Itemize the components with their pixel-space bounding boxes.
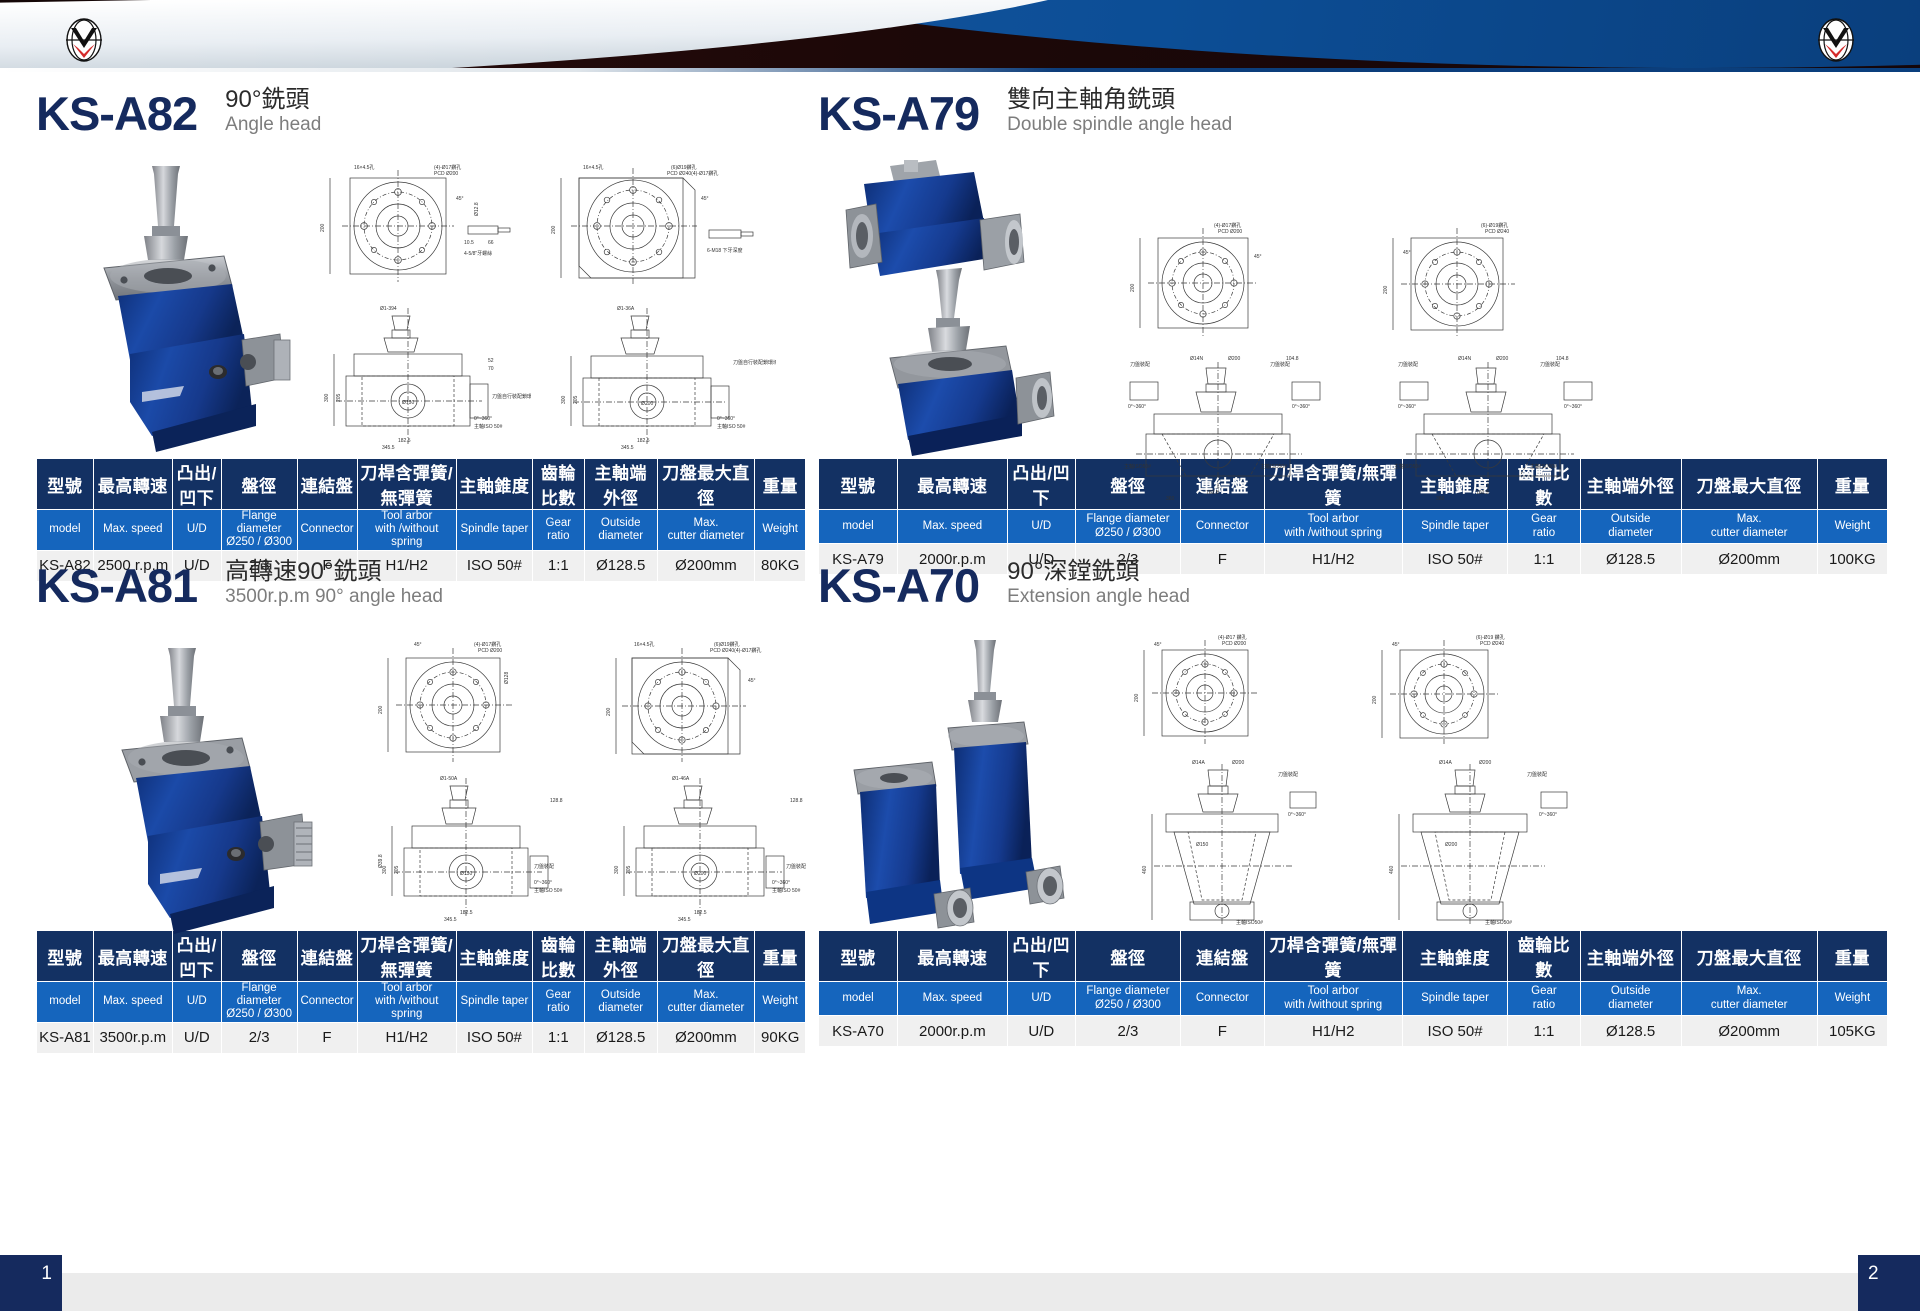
svg-text:刀盤裝配: 刀盤裝配 bbox=[1278, 771, 1298, 778]
svg-text:主軸ISO50#: 主軸ISO50# bbox=[1260, 463, 1287, 470]
th-cn-connector: 連結盤 bbox=[297, 459, 357, 510]
th-en-model: model bbox=[819, 982, 898, 1016]
th-en-tool-arbor: Tool arborwith /without spring bbox=[1264, 510, 1402, 544]
svg-text:300: 300 bbox=[561, 395, 567, 404]
th-cn-outside-diameter: 主軸端外徑 bbox=[584, 459, 657, 510]
product-desc-cn: 高轉速90°銑頭 bbox=[225, 558, 443, 586]
svg-text:Ø39.8: Ø39.8 bbox=[378, 854, 384, 868]
svg-text:160.5: 160.5 bbox=[1476, 490, 1489, 496]
svg-text:360: 360 bbox=[1436, 496, 1445, 500]
th-en-connector: Connector bbox=[1181, 510, 1264, 544]
svg-text:主軸ISO50#: 主軸ISO50# bbox=[1236, 919, 1263, 926]
svg-text:70: 70 bbox=[488, 366, 494, 372]
cell-connector: F bbox=[297, 1022, 357, 1053]
svg-text:Ø200: Ø200 bbox=[1479, 760, 1491, 766]
svg-text:0°~360°: 0°~360° bbox=[1398, 404, 1416, 410]
page-number-left: 1 bbox=[0, 1255, 62, 1311]
svg-text:Ø14N: Ø14N bbox=[1458, 356, 1471, 362]
th-cn-model: 型號 bbox=[819, 459, 898, 510]
svg-text:(4)-Ø17鑽孔: (4)-Ø17鑽孔 bbox=[474, 641, 501, 648]
th-en-flange: Flange diameterØ250 / Ø300 bbox=[221, 510, 297, 551]
th-en-connector: Connector bbox=[1181, 982, 1264, 1016]
th-en-max-speed: Max. speed bbox=[898, 510, 1008, 544]
th-en-ud: U/D bbox=[172, 982, 221, 1023]
svg-text:0°~360°: 0°~360° bbox=[1288, 812, 1306, 818]
th-cn-tool-arbor: 刀桿含彈簧/無彈簧 bbox=[357, 459, 456, 510]
svg-text:0°~360°: 0°~360° bbox=[1128, 404, 1146, 410]
th-en-gear-ratio: Gearratio bbox=[532, 510, 584, 551]
th-en-outside-diameter: Outsidediameter bbox=[584, 982, 657, 1023]
th-cn-outside-diameter: 主軸端外徑 bbox=[1580, 931, 1681, 982]
svg-text:PCD Ø200: PCD Ø200 bbox=[1222, 641, 1246, 647]
th-en-outside-diameter: Outsidediameter bbox=[584, 510, 657, 551]
th-en-max-cutter: Max.cutter diameter bbox=[657, 982, 755, 1023]
svg-text:460: 460 bbox=[1142, 865, 1148, 874]
svg-text:Ø200: Ø200 bbox=[1445, 842, 1457, 848]
footer-bar bbox=[0, 1273, 1920, 1311]
svg-text:主軸ISO 50#: 主軸ISO 50# bbox=[474, 423, 503, 430]
svg-text:0°~360°: 0°~360° bbox=[474, 416, 492, 422]
th-cn-flange: 盤徑 bbox=[221, 459, 297, 510]
th-cn-spindle-taper: 主軸錐度 bbox=[457, 931, 533, 982]
svg-text:Ø150: Ø150 bbox=[460, 871, 472, 877]
svg-text:16×4.5孔: 16×4.5孔 bbox=[583, 164, 603, 171]
th-en-spindle-taper: Spindle taper bbox=[457, 982, 533, 1023]
svg-text:刀盤自行裝配鎖環塊上: 刀盤自行裝配鎖環塊上 bbox=[492, 393, 531, 400]
table-header-en-row: model Max. speed U/D Flange diameterØ250… bbox=[819, 982, 1888, 1016]
th-en-tool-arbor: Tool arborwith /without spring bbox=[357, 510, 456, 551]
th-en-ud: U/D bbox=[1007, 510, 1075, 544]
product-title-row: KS-A79 雙向主軸角銑頭 Double spindle angle head bbox=[818, 86, 1888, 148]
th-cn-max-cutter: 刀盤最大直徑 bbox=[657, 459, 755, 510]
svg-text:200: 200 bbox=[1134, 693, 1140, 702]
svg-text:Ø200: Ø200 bbox=[1496, 356, 1508, 362]
svg-text:200: 200 bbox=[378, 705, 384, 714]
drawing-section-left: Ø14N Ø200 104.8 刀盤裝配 刀盤裝配 0°~ bbox=[1110, 350, 1340, 500]
table-row: KS-A70 2000r.p.m U/D 2/3 F H1/H2 ISO 50#… bbox=[819, 1016, 1888, 1047]
product-description: 高轉速90°銑頭 3500r.p.m 90° angle head bbox=[225, 558, 443, 609]
svg-text:200: 200 bbox=[1383, 285, 1389, 294]
th-cn-outside-diameter: 主軸端外徑 bbox=[584, 931, 657, 982]
svg-text:Ø14N: Ø14N bbox=[1190, 356, 1203, 362]
th-en-model: model bbox=[37, 982, 94, 1023]
product-desc-cn: 雙向主軸角銑頭 bbox=[1007, 86, 1232, 114]
svg-text:182.5: 182.5 bbox=[398, 438, 411, 444]
svg-text:345.5: 345.5 bbox=[678, 917, 691, 922]
th-en-flange: Flange diameterØ250 / Ø300 bbox=[1075, 982, 1180, 1016]
th-en-model: model bbox=[819, 510, 898, 544]
svg-text:(4)-Ø17鑽孔: (4)-Ø17鑽孔 bbox=[1214, 222, 1241, 229]
svg-text:Ø1-394: Ø1-394 bbox=[380, 306, 397, 312]
th-en-spindle-taper: Spindle taper bbox=[457, 510, 533, 551]
cell-max-cutter: Ø200mm bbox=[1681, 1016, 1817, 1047]
cell-weight: 90KG bbox=[755, 1022, 806, 1053]
cell-connector: F bbox=[1181, 1016, 1264, 1047]
svg-text:45°: 45° bbox=[414, 642, 422, 648]
product-title-row: KS-A70 90°深鏜銑頭 Extension angle head bbox=[818, 558, 1888, 620]
cell-max-speed: 2000r.p.m bbox=[898, 1016, 1008, 1047]
th-cn-max-cutter: 刀盤最大直徑 bbox=[1681, 931, 1817, 982]
spec-table-ks-a70: 型號 最高轉速 凸出/凹下 盤徑 連結盤 刀桿含彈簧/無彈簧 主軸錐度 齒輪比數… bbox=[818, 930, 1888, 1047]
drawing-side-section-left: Ø1-394 300 205 1 bbox=[306, 302, 531, 450]
product-model-name: KS-A79 bbox=[818, 86, 979, 137]
svg-text:0°~360°: 0°~360° bbox=[717, 416, 735, 422]
th-cn-connector: 連結盤 bbox=[1181, 931, 1264, 982]
svg-text:45°: 45° bbox=[748, 678, 756, 684]
svg-text:主軸ISO50#: 主軸ISO50# bbox=[1485, 919, 1512, 926]
svg-text:200: 200 bbox=[1130, 283, 1136, 292]
company-logo bbox=[52, 18, 116, 60]
header-banner bbox=[0, 0, 1920, 72]
svg-text:刀盤裝配: 刀盤裝配 bbox=[786, 863, 806, 870]
svg-text:刀盤裝配: 刀盤裝配 bbox=[1527, 771, 1547, 778]
svg-text:300: 300 bbox=[324, 393, 330, 402]
th-en-max-speed: Max. speed bbox=[898, 982, 1008, 1016]
drawing-extension-section-right: Ø14A Ø200 刀盤裝配 460 0°~360° bbox=[1363, 754, 1598, 926]
product-desc-en: Angle head bbox=[225, 114, 321, 137]
drawing-side-section-right: Ø1-46A 300 205 182.5 345.5 bbox=[594, 772, 829, 922]
th-cn-spindle-taper: 主軸錐度 bbox=[1402, 931, 1507, 982]
svg-text:45°: 45° bbox=[1254, 254, 1262, 260]
cell-tool-arbor: H1/H2 bbox=[357, 1022, 456, 1053]
th-en-spindle-taper: Spindle taper bbox=[1402, 982, 1507, 1016]
svg-text:刀盤自行裝配鎖環塊上: 刀盤自行裝配鎖環塊上 bbox=[733, 359, 776, 366]
svg-text:Ø14A: Ø14A bbox=[1192, 760, 1205, 766]
svg-text:(6)-Ø19 鑽孔: (6)-Ø19 鑽孔 bbox=[1476, 634, 1505, 641]
th-cn-gear-ratio: 齒輪比數 bbox=[532, 459, 584, 510]
th-cn-ud: 凸出/凹下 bbox=[172, 459, 221, 510]
drawing-flange-front-view: (4)-Ø17 鑽孔 PCD Ø200 200 45° bbox=[1118, 630, 1318, 748]
table-row: KS-A81 3500r.p.m U/D 2/3 F H1/H2 ISO 50#… bbox=[37, 1022, 806, 1053]
cell-spindle-taper: ISO 50# bbox=[1402, 1016, 1507, 1047]
cell-outside-diameter: Ø128.5 bbox=[584, 1022, 657, 1053]
svg-text:Ø1-50A: Ø1-50A bbox=[440, 776, 458, 782]
svg-text:345.5: 345.5 bbox=[444, 917, 457, 922]
svg-text:PCD Ø240(4)-Ø17鑽孔: PCD Ø240(4)-Ø17鑽孔 bbox=[667, 170, 718, 177]
svg-text:45°: 45° bbox=[1154, 642, 1162, 648]
th-en-ud: U/D bbox=[1007, 982, 1075, 1016]
product-photo bbox=[76, 646, 316, 941]
svg-text:460: 460 bbox=[1389, 865, 1395, 874]
svg-text:345.5: 345.5 bbox=[621, 445, 634, 450]
drawing-flange-front-view: (4)-Ø17鑽孔 PCD Ø200 45° 200 Ø bbox=[366, 636, 566, 766]
th-en-weight: Weight bbox=[755, 510, 806, 551]
product-desc-en: Double spindle angle head bbox=[1007, 114, 1232, 137]
svg-text:主軸ISO 50#: 主軸ISO 50# bbox=[534, 887, 563, 894]
svg-text:主軸ISO 50#: 主軸ISO 50# bbox=[772, 887, 801, 894]
svg-text:45°: 45° bbox=[1392, 642, 1400, 648]
svg-text:182.5: 182.5 bbox=[694, 910, 707, 916]
cell-flange: 2/3 bbox=[221, 1022, 297, 1053]
catalog-page: KS-A82 90°銑頭 Angle head bbox=[0, 0, 1920, 1311]
svg-text:0°~360°: 0°~360° bbox=[1292, 404, 1310, 410]
svg-text:0°~360°: 0°~360° bbox=[1539, 812, 1557, 818]
page-number-right: 2 bbox=[1858, 1255, 1920, 1311]
cell-ud: U/D bbox=[172, 1022, 221, 1053]
table-header-cn-row: 型號 最高轉速 凸出/凹下 盤徑 連結盤 刀桿含彈簧/無彈簧 主軸錐度 齒輪比數… bbox=[819, 459, 1888, 510]
svg-text:(6)Ø19鑽孔: (6)Ø19鑽孔 bbox=[671, 164, 697, 171]
th-cn-max-cutter: 刀盤最大直徑 bbox=[1681, 459, 1817, 510]
th-en-max-speed: Max. speed bbox=[93, 982, 172, 1023]
th-en-ud: U/D bbox=[172, 510, 221, 551]
cell-spindle-taper: ISO 50# bbox=[457, 1022, 533, 1053]
cell-gear-ratio: 1:1 bbox=[1508, 1016, 1580, 1047]
figure-area: (4)-Ø17 鑽孔 PCD Ø200 200 45° bbox=[818, 626, 1888, 926]
drawing-flange-front-view: (4)-Ø17鑽孔 PCD Ø200 200 45° bbox=[1118, 218, 1308, 338]
th-cn-max-cutter: 刀盤最大直徑 bbox=[657, 931, 755, 982]
table-header-en-row: model Max. speed U/D Flange diameterØ250… bbox=[37, 510, 806, 551]
product-desc-cn: 90°銑頭 bbox=[225, 86, 321, 114]
svg-text:345.5: 345.5 bbox=[382, 445, 395, 450]
svg-text:128.8: 128.8 bbox=[790, 798, 803, 804]
svg-text:205: 205 bbox=[573, 395, 579, 404]
product-photo bbox=[828, 636, 1088, 941]
svg-text:刀盤裝配: 刀盤裝配 bbox=[1130, 361, 1150, 368]
svg-text:128.8: 128.8 bbox=[550, 798, 563, 804]
svg-text:200: 200 bbox=[606, 707, 612, 716]
svg-text:PCD Ø200: PCD Ø200 bbox=[478, 648, 502, 654]
table-header-en-row: model Max. speed U/D Flange diameterØ250… bbox=[37, 982, 806, 1023]
svg-text:Ø200: Ø200 bbox=[1232, 760, 1244, 766]
svg-text:Ø1-46A: Ø1-46A bbox=[672, 776, 690, 782]
th-en-gear-ratio: Gearratio bbox=[1508, 510, 1580, 544]
svg-text:Ø12.8: Ø12.8 bbox=[474, 202, 480, 216]
svg-text:52: 52 bbox=[488, 358, 494, 364]
svg-text:刀盤裝配: 刀盤裝配 bbox=[1398, 361, 1418, 368]
th-en-tool-arbor: Tool arborwith /without spring bbox=[1264, 982, 1402, 1016]
th-en-max-cutter: Max.cutter diameter bbox=[1681, 510, 1817, 544]
cell-max-cutter: Ø200mm bbox=[657, 1022, 755, 1053]
th-en-gear-ratio: Gearratio bbox=[532, 982, 584, 1023]
th-cn-weight: 重量 bbox=[755, 931, 806, 982]
th-cn-weight: 重量 bbox=[1817, 931, 1887, 982]
svg-text:45°: 45° bbox=[456, 196, 464, 202]
page-footer: 1 2 bbox=[0, 1255, 1920, 1311]
svg-text:4-5/8"牙螺絲: 4-5/8"牙螺絲 bbox=[464, 250, 492, 257]
svg-text:6-M18 下牙深度: 6-M18 下牙深度 bbox=[707, 247, 743, 254]
drawing-side-section-right: Ø1-36A 300 205 182.5 345.5 bbox=[541, 302, 776, 450]
product-title-row: KS-A82 90°銑頭 Angle head bbox=[36, 86, 806, 148]
product-photo bbox=[828, 158, 1088, 463]
th-en-tool-arbor: Tool arborwith /without spring bbox=[357, 982, 456, 1023]
cell-outside-diameter: Ø128.5 bbox=[1580, 1016, 1681, 1047]
svg-text:(6)-Ø19鑽孔: (6)-Ø19鑽孔 bbox=[1481, 222, 1508, 229]
svg-text:16×4.5孔: 16×4.5孔 bbox=[354, 164, 374, 171]
svg-text:主軸ISO 50#: 主軸ISO 50# bbox=[717, 423, 746, 430]
svg-text:16×4.5孔: 16×4.5孔 bbox=[634, 641, 654, 648]
th-cn-tool-arbor: 刀桿含彈簧/無彈簧 bbox=[357, 931, 456, 982]
svg-text:205: 205 bbox=[394, 865, 400, 874]
drawing-extension-section-left: Ø14A Ø200 刀盤裝配 460 bbox=[1118, 754, 1348, 926]
svg-text:PCD Ø240: PCD Ø240 bbox=[1485, 229, 1509, 235]
svg-text:Ø200: Ø200 bbox=[1228, 356, 1240, 362]
svg-text:刀盤裝配: 刀盤裝配 bbox=[534, 863, 554, 870]
svg-text:Ø200: Ø200 bbox=[694, 871, 706, 877]
th-en-outside-diameter: Outsidediameter bbox=[1580, 510, 1681, 544]
product-desc-en: 3500r.p.m 90° angle head bbox=[225, 586, 443, 609]
product-photo bbox=[56, 164, 296, 459]
svg-text:主軸ISO50#: 主軸ISO50# bbox=[1124, 463, 1151, 470]
svg-text:360: 360 bbox=[1166, 496, 1175, 500]
svg-text:Ø200: Ø200 bbox=[641, 401, 653, 407]
product-description: 雙向主軸角銑頭 Double spindle angle head bbox=[1007, 86, 1232, 137]
cell-ud: U/D bbox=[1007, 1016, 1075, 1047]
th-cn-gear-ratio: 齒輪比數 bbox=[1508, 931, 1580, 982]
drawing-section-right: Ø14N Ø200 104.8 刀盤裝配 刀盤裝配 0°~ bbox=[1378, 350, 1613, 500]
cell-max-speed: 3500r.p.m bbox=[93, 1022, 172, 1053]
svg-text:200: 200 bbox=[320, 223, 326, 232]
product-title-row: KS-A81 高轉速90°銑頭 3500r.p.m 90° angle head bbox=[36, 558, 806, 620]
table-header-en-row: model Max. speed U/D Flange diameterØ250… bbox=[819, 510, 1888, 544]
drawing-flange-rear-view: 16×4.5孔 (6)Ø19鑽孔 PCD Ø240(4)-Ø17鑽孔 bbox=[541, 160, 771, 300]
product-model-name: KS-A82 bbox=[36, 86, 197, 137]
svg-text:200: 200 bbox=[551, 225, 557, 234]
svg-text:300: 300 bbox=[614, 865, 620, 874]
drawing-flange-rear-view: (6)-Ø19鑽孔 PCD Ø240 200 45° bbox=[1373, 218, 1568, 338]
figure-area: 16×4.5孔 (4)-Ø17鑽孔 PCD Ø200 200 bbox=[36, 154, 806, 454]
svg-text:Ø150: Ø150 bbox=[402, 400, 414, 406]
th-cn-gear-ratio: 齒輪比數 bbox=[532, 931, 584, 982]
th-en-max-speed: Max. speed bbox=[93, 510, 172, 551]
svg-text:182.5: 182.5 bbox=[637, 438, 650, 444]
svg-text:主軸ISO50#: 主軸ISO50# bbox=[1530, 463, 1557, 470]
svg-text:205: 205 bbox=[336, 393, 342, 402]
th-cn-flange: 盤徑 bbox=[1075, 931, 1180, 982]
product-model-name: KS-A81 bbox=[36, 558, 197, 609]
th-en-outside-diameter: Outsidediameter bbox=[1580, 982, 1681, 1016]
drawing-flange-front-view: 16×4.5孔 (4)-Ø17鑽孔 PCD Ø200 200 bbox=[306, 160, 526, 300]
th-en-weight: Weight bbox=[1817, 510, 1887, 544]
th-cn-tool-arbor: 刀桿含彈簧/無彈簧 bbox=[1264, 931, 1402, 982]
svg-text:0°~360°: 0°~360° bbox=[534, 880, 552, 886]
th-cn-ud: 凸出/凹下 bbox=[1007, 459, 1075, 510]
product-model-name: KS-A70 bbox=[818, 558, 979, 609]
th-cn-max-speed: 最高轉速 bbox=[93, 459, 172, 510]
th-en-max-cutter: Max.cutter diameter bbox=[1681, 982, 1817, 1016]
product-block-ks-a81: KS-A81 高轉速90°銑頭 3500r.p.m 90° angle head bbox=[36, 558, 806, 1054]
drawing-flange-rear-view: 16×4.5孔 (6)Ø19鑽孔 PCD Ø240(4)-Ø17鑽孔 bbox=[596, 636, 806, 766]
cell-model: KS-A70 bbox=[819, 1016, 898, 1047]
svg-text:刀盤裝配: 刀盤裝配 bbox=[1540, 361, 1560, 368]
th-en-flange: Flange diameterØ250 / Ø300 bbox=[1075, 510, 1180, 544]
svg-text:Ø14A: Ø14A bbox=[1439, 760, 1452, 766]
cell-tool-arbor: H1/H2 bbox=[1264, 1016, 1402, 1047]
svg-text:PCD Ø200: PCD Ø200 bbox=[1218, 229, 1242, 235]
spec-table-ks-a81: 型號 最高轉速 凸出/凹下 盤徑 連結盤 刀桿含彈簧/無彈簧 主軸錐度 齒輪比數… bbox=[36, 930, 806, 1054]
product-desc-cn: 90°深鏜銑頭 bbox=[1007, 558, 1190, 586]
th-en-connector: Connector bbox=[297, 510, 357, 551]
th-cn-weight: 重量 bbox=[1817, 459, 1887, 510]
figure-area: (4)-Ø17鑽孔 PCD Ø200 45° 200 Ø bbox=[36, 626, 806, 926]
product-desc-en: Extension angle head bbox=[1007, 586, 1190, 609]
product-block-ks-a79: KS-A79 雙向主軸角銑頭 Double spindle angle head bbox=[818, 86, 1888, 575]
table-header-cn-row: 型號 最高轉速 凸出/凹下 盤徑 連結盤 刀桿含彈簧/無彈簧 主軸錐度 齒輪比數… bbox=[37, 459, 806, 510]
svg-text:PCD Ø200: PCD Ø200 bbox=[434, 171, 458, 177]
company-logo-right bbox=[1804, 18, 1868, 60]
th-en-flange: Flange diameterØ250 / Ø300 bbox=[221, 982, 297, 1023]
svg-text:160.5: 160.5 bbox=[1206, 490, 1219, 496]
banner-bottom-rule bbox=[0, 68, 1920, 72]
product-block-ks-a82: KS-A82 90°銑頭 Angle head bbox=[36, 86, 806, 582]
cell-flange: 2/3 bbox=[1075, 1016, 1180, 1047]
figure-area: (4)-Ø17鑽孔 PCD Ø200 200 45° bbox=[818, 154, 1888, 454]
svg-text:刀盤裝配: 刀盤裝配 bbox=[1270, 361, 1290, 368]
th-en-gear-ratio: Gearratio bbox=[1508, 982, 1580, 1016]
svg-text:200: 200 bbox=[1372, 695, 1378, 704]
th-en-weight: Weight bbox=[755, 982, 806, 1023]
th-cn-model: 型號 bbox=[37, 459, 94, 510]
svg-text:PCD Ø240: PCD Ø240 bbox=[1480, 641, 1504, 647]
svg-text:主軸ISO50#: 主軸ISO50# bbox=[1394, 463, 1421, 470]
svg-text:205: 205 bbox=[626, 865, 632, 874]
svg-text:182.5: 182.5 bbox=[460, 910, 473, 916]
product-description: 90°銑頭 Angle head bbox=[225, 86, 321, 137]
th-en-max-cutter: Max.cutter diameter bbox=[657, 510, 755, 551]
drawing-side-section-left: Ø1-50A 300 205 Ø39.8 182.5 bbox=[364, 772, 589, 922]
drawing-flange-rear-view: (6)-Ø19 鑽孔 PCD Ø240 200 45° bbox=[1358, 630, 1568, 748]
svg-text:0°~360°: 0°~360° bbox=[1564, 404, 1582, 410]
product-block-ks-a70: KS-A70 90°深鏜銑頭 Extension angle head bbox=[818, 558, 1888, 1047]
cell-weight: 105KG bbox=[1817, 1016, 1887, 1047]
svg-text:(6)Ø19鑽孔: (6)Ø19鑽孔 bbox=[714, 641, 740, 648]
th-cn-max-speed: 最高轉速 bbox=[898, 459, 1008, 510]
svg-text:45°: 45° bbox=[1403, 250, 1411, 256]
svg-text:45°: 45° bbox=[701, 196, 709, 202]
svg-text:PCD Ø240(4)-Ø17鑽孔: PCD Ø240(4)-Ø17鑽孔 bbox=[710, 647, 761, 654]
svg-text:Ø1-36A: Ø1-36A bbox=[617, 306, 635, 312]
svg-text:(4)-Ø17 鑽孔: (4)-Ø17 鑽孔 bbox=[1218, 634, 1247, 641]
svg-text:Ø150: Ø150 bbox=[1196, 842, 1208, 848]
cell-model: KS-A81 bbox=[37, 1022, 94, 1053]
th-cn-spindle-taper: 主軸錐度 bbox=[457, 459, 533, 510]
svg-text:(4)-Ø17鑽孔: (4)-Ø17鑽孔 bbox=[434, 164, 461, 171]
th-en-connector: Connector bbox=[297, 982, 357, 1023]
svg-text:66: 66 bbox=[488, 240, 494, 246]
product-description: 90°深鏜銑頭 Extension angle head bbox=[1007, 558, 1190, 609]
svg-text:0°~360°: 0°~360° bbox=[772, 880, 790, 886]
th-en-model: model bbox=[37, 510, 94, 551]
th-cn-weight: 重量 bbox=[755, 459, 806, 510]
th-en-weight: Weight bbox=[1817, 982, 1887, 1016]
svg-text:Ø128: Ø128 bbox=[504, 672, 510, 684]
th-en-spindle-taper: Spindle taper bbox=[1402, 510, 1507, 544]
cell-gear-ratio: 1:1 bbox=[532, 1022, 584, 1053]
svg-text:10.5: 10.5 bbox=[464, 240, 474, 246]
